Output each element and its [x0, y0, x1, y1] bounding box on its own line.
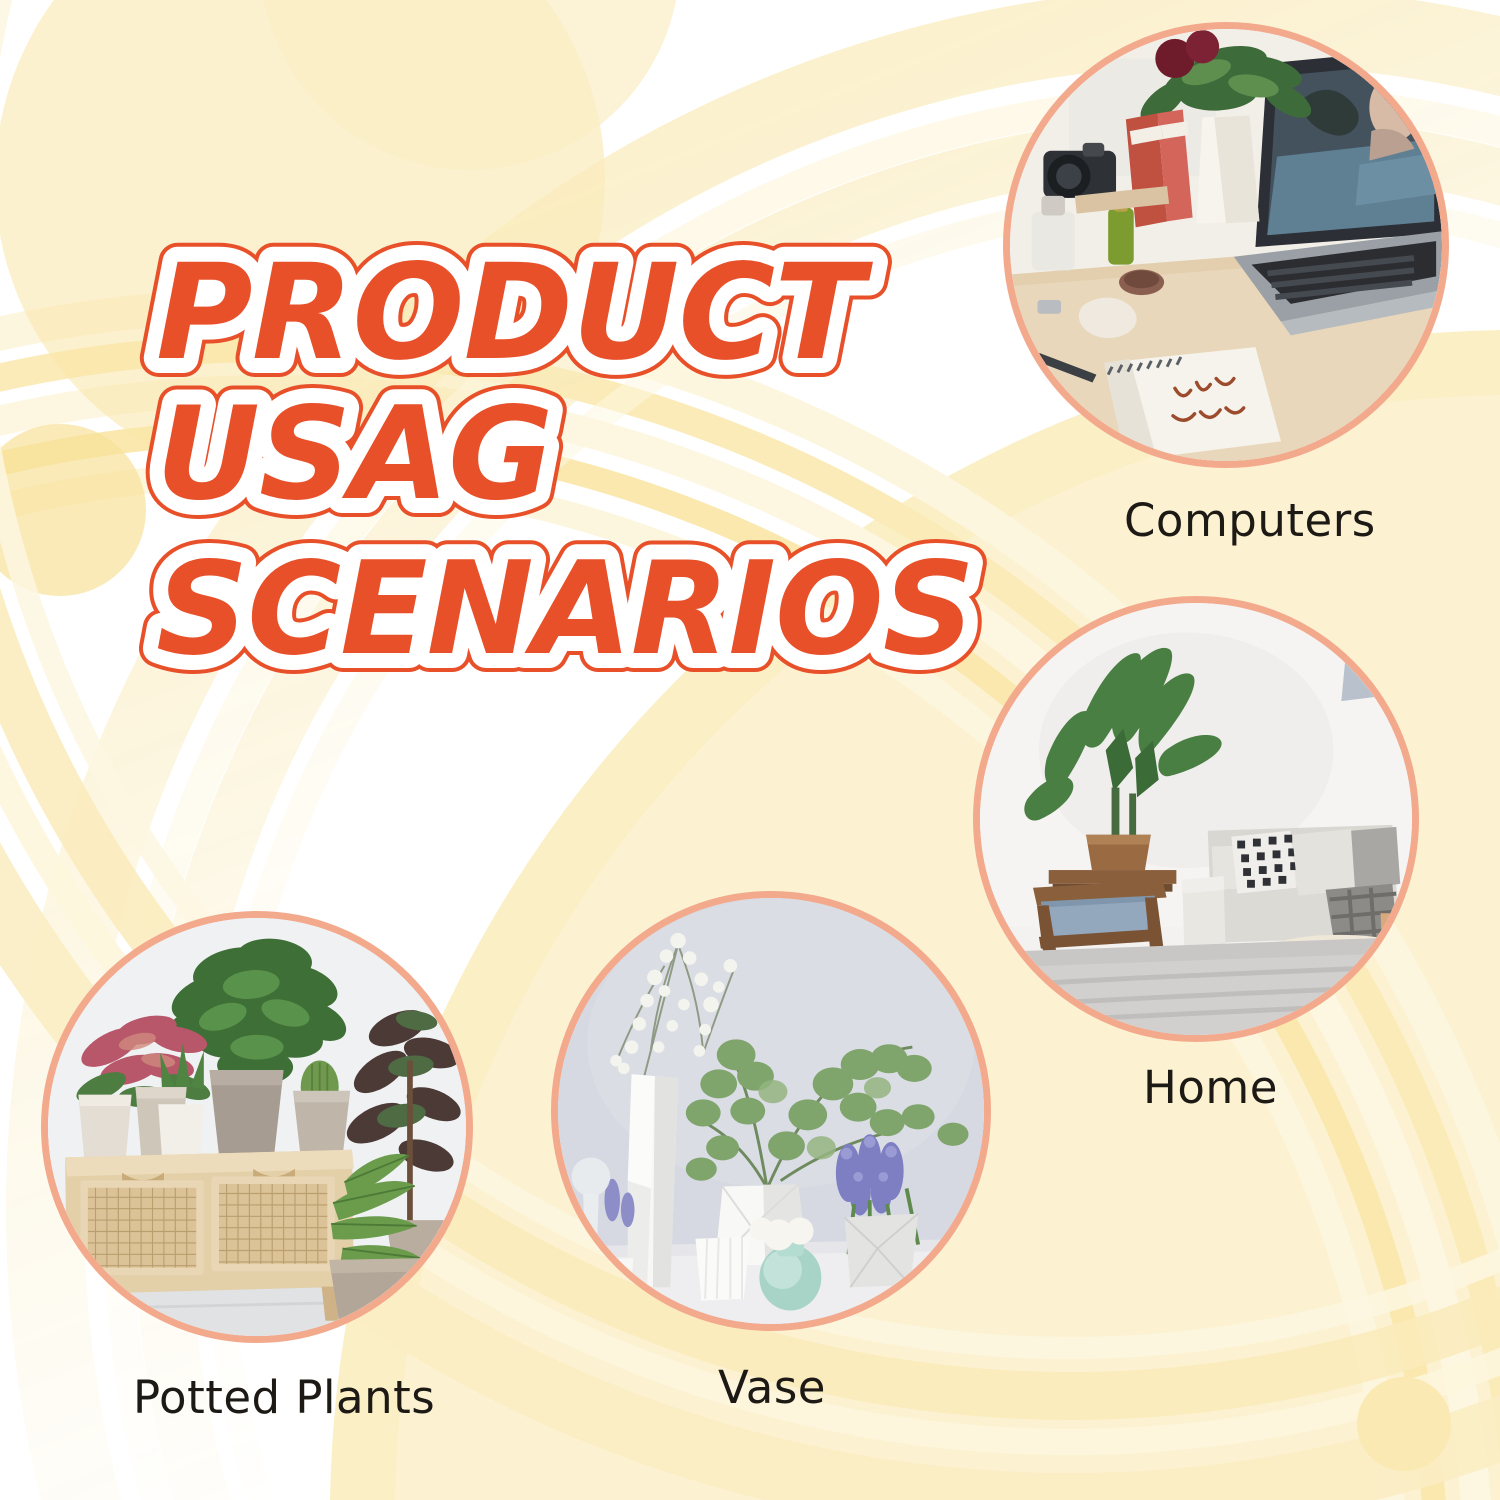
title-line-1: PRODUCT PRODUCT PRODUCT — [156, 236, 873, 390]
desk-workspace-illustration — [1010, 29, 1442, 461]
scenario-photo-vase-image — [558, 898, 984, 1324]
title-line-3-fill: SCENARIOS — [156, 535, 974, 684]
page-title: PRODUCT PRODUCT PRODUCT USAG USAG USAG S… — [150, 228, 970, 728]
scenario-photo-computers-image — [1010, 29, 1442, 461]
scenario-photo-home[interactable] — [973, 596, 1419, 1042]
title-line-2: USAG USAG USAG — [156, 380, 552, 529]
caption-potted-plants: Potted Plants — [133, 1371, 435, 1424]
caption-home: Home — [1143, 1061, 1278, 1114]
scenario-photo-home-image — [980, 603, 1412, 1035]
scenario-photo-vase[interactable] — [551, 891, 991, 1331]
scenario-photo-potted-plants-image — [48, 918, 466, 1336]
caption-vase: Vase — [718, 1361, 826, 1414]
ceramic-vases-illustration — [558, 898, 984, 1324]
title-line-2-fill: USAG — [156, 380, 552, 529]
page-title-svg: PRODUCT PRODUCT PRODUCT USAG USAG USAG S… — [150, 228, 970, 728]
title-line-1-fill: PRODUCT — [156, 236, 873, 390]
caption-computers: Computers — [1124, 494, 1376, 547]
scenario-photo-potted-plants[interactable] — [41, 911, 473, 1343]
accent-dot — [1357, 1377, 1451, 1471]
potted-plants-illustration — [48, 918, 466, 1336]
product-usage-scenarios-poster: PRODUCT PRODUCT PRODUCT USAG USAG USAG S… — [0, 0, 1500, 1500]
living-room-illustration — [980, 603, 1412, 1035]
title-line-3: SCENARIOS SCENARIOS SCENARIOS — [156, 535, 974, 684]
scenario-photo-computers[interactable] — [1003, 22, 1449, 468]
